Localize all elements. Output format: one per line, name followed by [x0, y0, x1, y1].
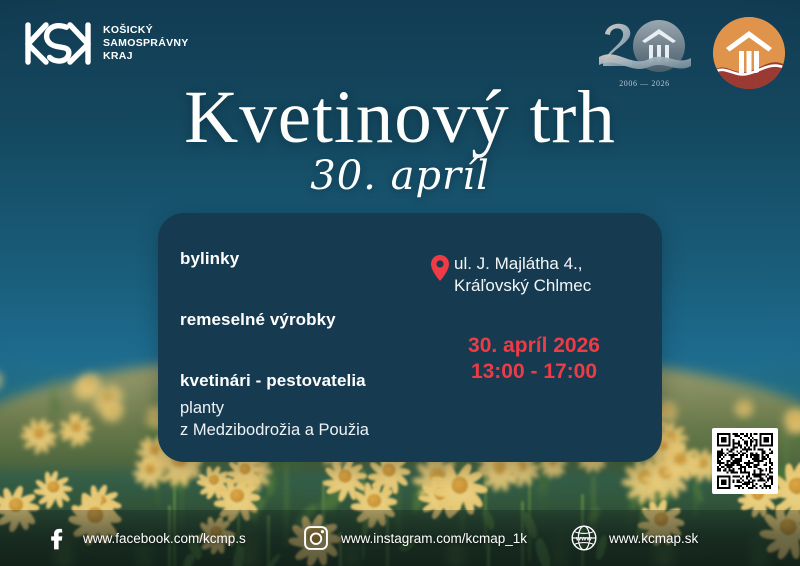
offering-item-bylinky: bylinky — [180, 249, 430, 269]
ksk-word-line-1: KOŠICKÝ — [103, 24, 189, 37]
footer-link-instagram[interactable]: www.instagram.com/kcmap_1k — [302, 524, 570, 552]
event-time: 13:00 - 17:00 — [430, 359, 638, 385]
event-date: 30. apríl 2026 — [430, 333, 638, 359]
map-pin-icon — [430, 254, 450, 282]
poster-canvas: KOŠICKÝ SAMOSPRÁVNY KRAJ — [0, 0, 800, 566]
ksk-monogram-icon — [22, 20, 94, 67]
offering-note-line-1: planty — [180, 397, 430, 419]
facebook-icon — [44, 524, 72, 552]
instagram-icon — [302, 524, 330, 552]
ksk-word-line-2: SAMOSPRÁVNY — [103, 37, 189, 50]
footer-links: www.facebook.com/kcmp.s www.instagram.co… — [0, 510, 800, 566]
page-subtitle: 30. apríl — [0, 156, 800, 196]
ksk-word-line-3: KRAJ — [103, 50, 189, 63]
museum-building-icon — [713, 17, 785, 89]
ksk-wordmark: KOŠICKÝ SAMOSPRÁVNY KRAJ — [103, 24, 189, 62]
offering-note-line-2: z Medzibodrožia a Použia — [180, 419, 430, 441]
offerings-column: bylinky remeselné výrobky kvetinári - pe… — [158, 213, 430, 462]
offering-item-kvetinari-pestovatelia: kvetinári - pestovatelia — [180, 371, 430, 391]
offering-item-remeselne-vyrobky: remeselné výrobky — [180, 310, 430, 330]
ksk-logo: KOŠICKÝ SAMOSPRÁVNY KRAJ — [22, 20, 189, 67]
svg-text:www: www — [575, 535, 593, 542]
museum-logo — [713, 17, 785, 89]
address-line-2: Kráľovský Chlmec — [454, 275, 591, 297]
address-lines: ul. J. Majlátha 4., Kráľovský Chlmec — [454, 253, 591, 297]
footer-link-facebook[interactable]: www.facebook.com/kcmp.s — [44, 524, 302, 552]
anniversary-20-icon — [597, 16, 692, 78]
footer-link-website[interactable]: www www.kcmap.sk — [570, 524, 698, 552]
facebook-url: www.facebook.com/kcmp.s — [83, 531, 246, 546]
info-card: bylinky remeselné výrobky kvetinári - pe… — [158, 213, 662, 462]
instagram-url: www.instagram.com/kcmap_1k — [341, 531, 527, 546]
qr-code[interactable] — [712, 428, 778, 494]
details-column: ul. J. Majlátha 4., Kráľovský Chlmec 30.… — [430, 213, 662, 462]
address-block: ul. J. Majlátha 4., Kráľovský Chlmec — [430, 253, 662, 297]
address-line-1: ul. J. Majlátha 4., — [454, 253, 591, 275]
qr-code-icon — [717, 433, 773, 489]
globe-www-icon: www — [570, 524, 598, 552]
website-url: www.kcmap.sk — [609, 531, 698, 546]
event-when-block: 30. apríl 2026 13:00 - 17:00 — [430, 333, 662, 386]
page-title: Kvetinový trh — [0, 80, 800, 155]
